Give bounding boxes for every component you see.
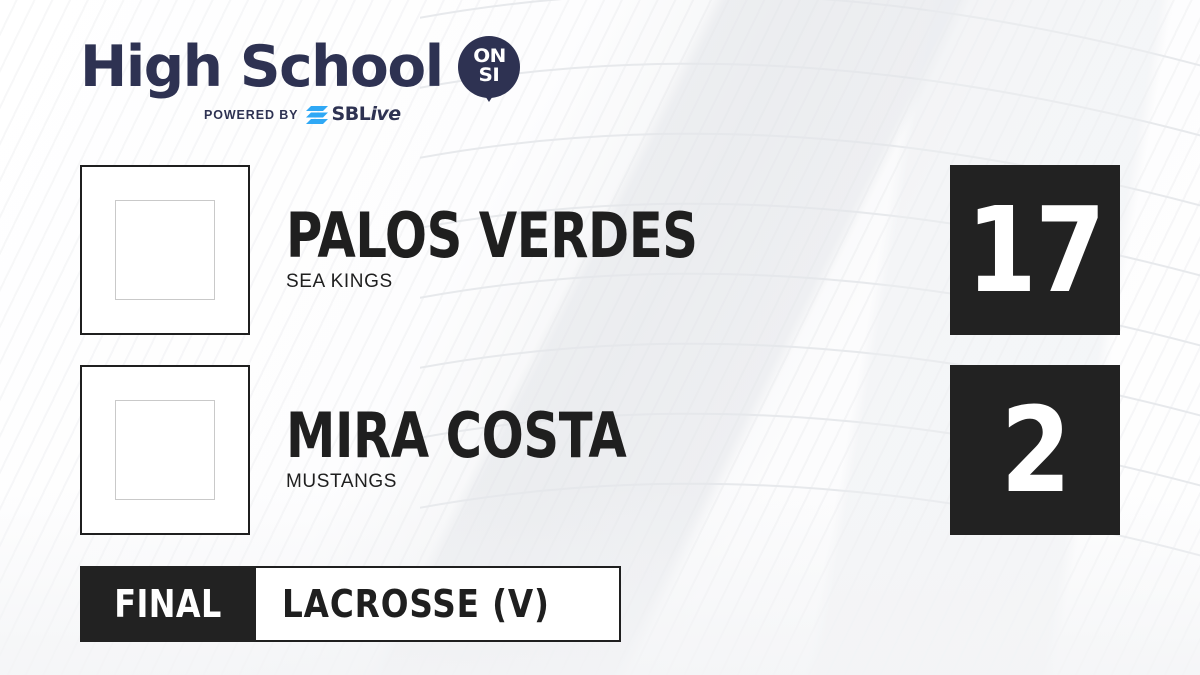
image-placeholder-icon (115, 400, 215, 500)
game-state-block: FINAL (80, 566, 256, 642)
image-placeholder-icon (115, 200, 215, 300)
team-logo-box (80, 365, 250, 535)
team-row: MIRA COSTA MUSTANGS 2 (0, 365, 1200, 535)
sblive-wordmark-lower: ive (371, 103, 401, 125)
team-mascot: SEA KINGS (286, 271, 801, 293)
sport-block: LACROSSE (V) (256, 566, 621, 642)
team-logo-box (80, 165, 250, 335)
brand-wordmark: High School (80, 39, 443, 96)
team-identity: PALOS VERDES SEA KINGS (286, 165, 801, 335)
game-state-label: FINAL (114, 585, 222, 623)
team-identity: MIRA COSTA MUSTANGS (286, 365, 711, 535)
team-name: MIRA COSTA (286, 407, 626, 465)
team-score: 2 (1001, 391, 1070, 509)
team-row: PALOS VERDES SEA KINGS 17 (0, 165, 1200, 335)
brand-logo-lockup: High School ON SI POWERED BY (80, 36, 510, 136)
on-si-pin-icon: ON SI (458, 36, 520, 98)
powered-by-row: POWERED BY SBLive (80, 105, 510, 124)
team-score-box: 2 (950, 365, 1120, 535)
pin-label-group: ON SI (458, 36, 520, 98)
sblive-slash-icon (306, 106, 328, 124)
game-status-banner: FINAL LACROSSE (V) (80, 566, 621, 642)
team-score: 17 (966, 191, 1104, 309)
team-name: PALOS VERDES (286, 207, 698, 265)
team-score-box: 17 (950, 165, 1120, 335)
sblive-wordmark: SBLive (331, 105, 400, 124)
brand-wordmark-row: High School ON SI (80, 36, 510, 98)
sblive-wordmark-upper: SBL (331, 103, 370, 125)
pin-label-si: SI (479, 67, 500, 84)
sblive-logo: SBLive (306, 105, 400, 124)
team-mascot: MUSTANGS (286, 471, 711, 493)
scorecard-graphic: High School ON SI POWERED BY (0, 0, 1200, 675)
sport-label: LACROSSE (V) (282, 585, 550, 623)
powered-by-label: POWERED BY (204, 108, 298, 122)
